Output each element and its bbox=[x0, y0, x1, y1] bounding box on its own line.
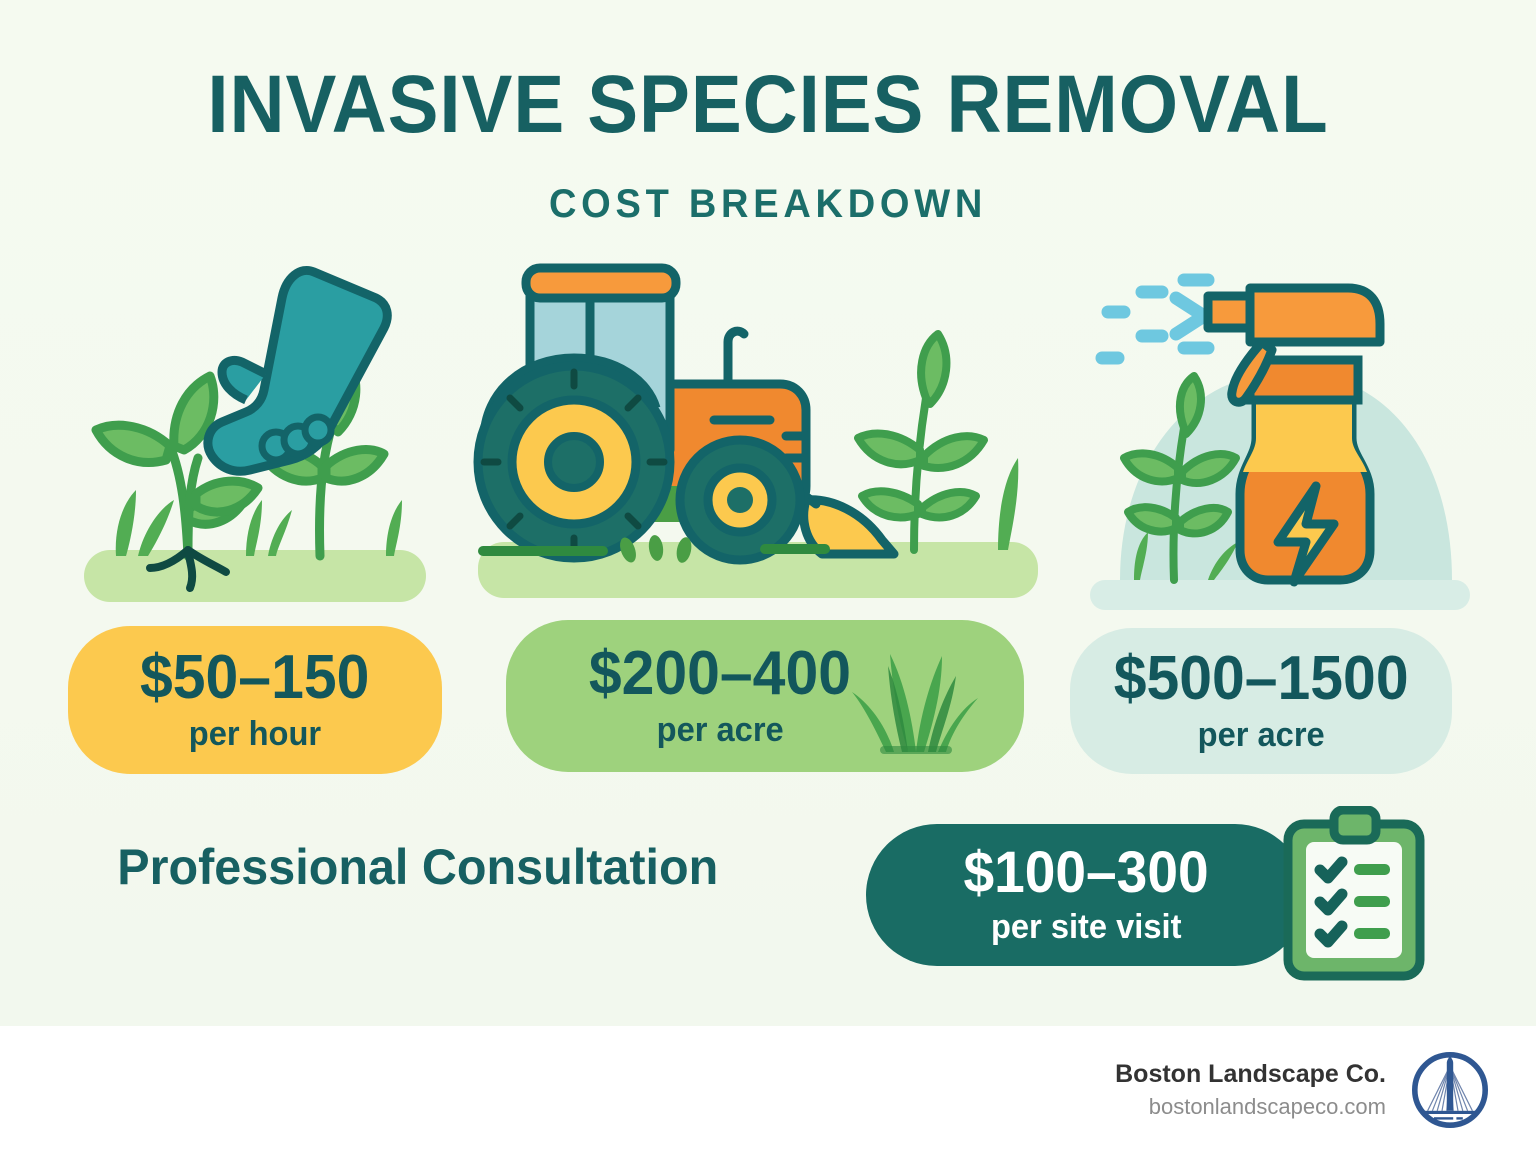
illustration-row bbox=[0, 250, 1536, 610]
spray-bottle-icon bbox=[1080, 250, 1480, 610]
price-card-mechanical-removal[interactable]: $200–400 per acre bbox=[506, 620, 1024, 772]
infographic-poster: INVASIVE SPECIES REMOVAL COST BREAKDOWN bbox=[0, 0, 1536, 1154]
price-amount: $100–300 bbox=[963, 844, 1208, 902]
brand-website: bostonlandscapeco.com bbox=[1115, 1092, 1386, 1122]
price-card-consultation[interactable]: $100–300 per site visit bbox=[866, 824, 1306, 966]
brand-name: Boston Landscape Co. bbox=[1115, 1058, 1386, 1092]
footer-text-block: Boston Landscape Co. bostonlandscapeco.c… bbox=[1115, 1058, 1386, 1121]
price-amount: $50–150 bbox=[140, 647, 369, 709]
footer-bar: Boston Landscape Co. bostonlandscapeco.c… bbox=[0, 1026, 1536, 1154]
price-card-text: $200–400 per acre bbox=[582, 643, 858, 750]
page-subtitle: COST BREAKDOWN bbox=[38, 182, 1497, 227]
price-card-hand-pulling[interactable]: $50–150 per hour bbox=[68, 626, 442, 774]
price-unit: per acre bbox=[1197, 716, 1324, 755]
price-card-herbicide-treatment[interactable]: $500–1500 per acre bbox=[1070, 628, 1452, 774]
price-unit: per acre bbox=[656, 711, 783, 750]
clipboard-checklist-icon bbox=[1278, 806, 1430, 982]
price-unit: per hour bbox=[189, 715, 321, 754]
price-unit: per site visit bbox=[991, 908, 1181, 947]
price-amount: $200–400 bbox=[589, 643, 851, 705]
consultation-label: Professional Consultation bbox=[117, 838, 718, 896]
grass-tuft-icon bbox=[846, 648, 986, 754]
bridge-circle-logo bbox=[1410, 1050, 1490, 1130]
tractor-icon bbox=[470, 250, 1060, 610]
gloved-hand-pulling-weed-icon bbox=[70, 250, 440, 610]
price-amount: $500–1500 bbox=[1114, 648, 1409, 710]
page-title: INVASIVE SPECIES REMOVAL bbox=[54, 62, 1482, 148]
